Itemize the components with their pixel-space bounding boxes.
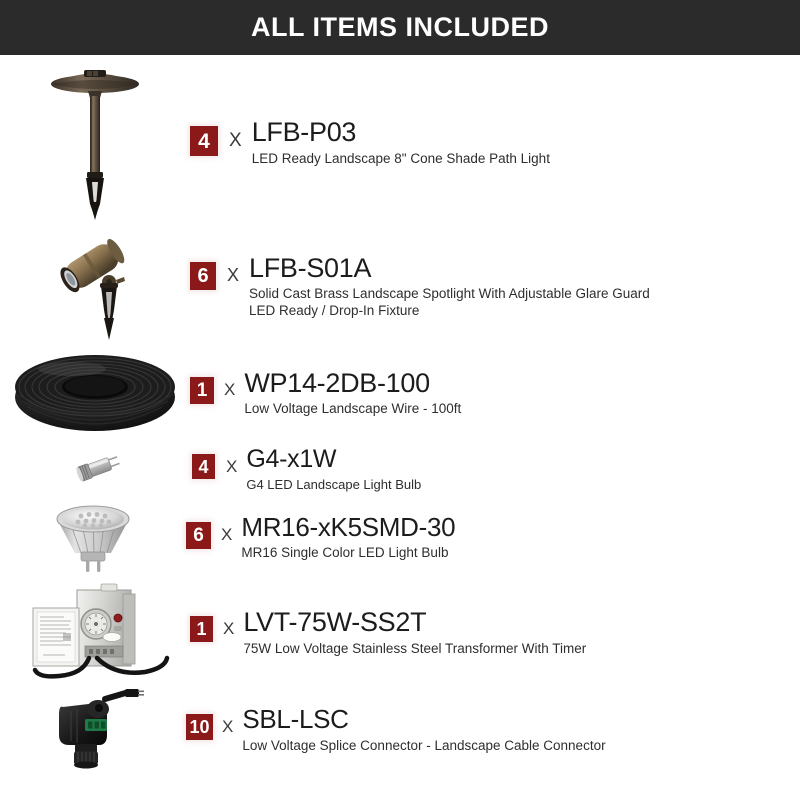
product-image-mr16-bulb xyxy=(0,497,186,577)
multiplier-symbol: X xyxy=(229,130,242,152)
item-info: 4 X LFB-P03 LED Ready Landscape 8" Cone … xyxy=(190,112,800,167)
list-item: 1 X WP14-2DB-100 Low Voltage Landscape W… xyxy=(0,345,800,440)
qty-badge: 10 xyxy=(186,714,213,740)
page-header-bar: ALL ITEMS INCLUDED xyxy=(0,0,800,55)
item-sku: MR16-xK5SMD-30 xyxy=(241,514,800,541)
splice-connector-icon xyxy=(41,689,145,771)
item-description: 75W Low Voltage Stainless Steel Transfor… xyxy=(243,641,800,658)
multiplier-symbol: X xyxy=(226,457,237,477)
qty-group: 4 X xyxy=(192,446,246,479)
list-item: 10 X SBL-LSC Low Voltage Splice Connecto… xyxy=(0,687,800,772)
item-text: LFB-P03 LED Ready Landscape 8" Cone Shad… xyxy=(252,118,800,167)
qty-group: 1 X xyxy=(190,369,244,404)
included-items-list: 4 X LFB-P03 LED Ready Landscape 8" Cone … xyxy=(0,55,800,772)
path-light-icon xyxy=(30,58,160,223)
qty-badge: 1 xyxy=(190,377,214,404)
item-description: LED Ready Landscape 8" Cone Shade Path L… xyxy=(252,151,800,168)
wire-coil-icon xyxy=(10,349,180,437)
product-image-spotlight xyxy=(0,225,190,345)
item-info: 10 X SBL-LSC Low Voltage Splice Connecto… xyxy=(186,704,800,754)
all-items-included-page: { "header": { "title": "ALL ITEMS INCLUD… xyxy=(0,0,800,789)
item-info: 4 X G4-x1W G4 LED Landscape Light Bulb xyxy=(192,444,800,493)
qty-group: 6 X xyxy=(190,254,249,290)
item-sku: G4-x1W xyxy=(246,446,800,472)
qty-group: 10 X xyxy=(186,706,242,740)
qty-badge: 6 xyxy=(190,262,216,290)
item-info: 1 X WP14-2DB-100 Low Voltage Landscape W… xyxy=(190,367,800,418)
item-sku: LFB-S01A xyxy=(249,254,800,282)
transformer-icon xyxy=(19,578,171,686)
item-text: LFB-S01A Solid Cast Brass Landscape Spot… xyxy=(249,254,800,320)
list-item: 1 X LVT-75W-SS2T 75W Low Voltage Stainle… xyxy=(0,577,800,687)
product-image-transformer xyxy=(0,577,190,687)
qty-group: 4 X xyxy=(190,118,252,156)
item-text: SBL-LSC Low Voltage Splice Connector - L… xyxy=(242,706,800,754)
item-text: MR16-xK5SMD-30 MR16 Single Color LED Lig… xyxy=(241,514,800,562)
multiplier-symbol: X xyxy=(222,717,233,737)
item-text: WP14-2DB-100 Low Voltage Landscape Wire … xyxy=(244,369,800,418)
item-description: Low Voltage Landscape Wire - 100ft xyxy=(244,401,800,418)
item-description: G4 LED Landscape Light Bulb xyxy=(246,477,800,493)
multiplier-symbol: X xyxy=(223,619,234,639)
page-title: ALL ITEMS INCLUDED xyxy=(251,12,549,43)
product-image-g4-bulb xyxy=(0,440,192,497)
item-description: Solid Cast Brass Landscape Spotlight Wit… xyxy=(249,286,800,320)
qty-group: 1 X xyxy=(190,608,243,642)
item-info: 1 X LVT-75W-SS2T 75W Low Voltage Stainle… xyxy=(190,606,800,657)
mr16-bulb-icon xyxy=(45,499,141,575)
multiplier-symbol: X xyxy=(224,380,235,400)
list-item: 4 X G4-x1W G4 LED Landscape Light Bulb xyxy=(0,440,800,497)
qty-badge: 4 xyxy=(192,454,215,479)
item-info: 6 X LFB-S01A Solid Cast Brass Landscape … xyxy=(190,250,800,320)
item-sku: LVT-75W-SS2T xyxy=(243,608,800,636)
product-image-path-light xyxy=(0,55,190,225)
item-sku: SBL-LSC xyxy=(242,706,800,733)
list-item: 4 X LFB-P03 LED Ready Landscape 8" Cone … xyxy=(0,55,800,225)
item-description: Low Voltage Splice Connector - Landscape… xyxy=(242,738,800,755)
item-text: G4-x1W G4 LED Landscape Light Bulb xyxy=(246,446,800,493)
multiplier-symbol: X xyxy=(227,265,239,286)
item-description: MR16 Single Color LED Light Bulb xyxy=(241,545,800,562)
list-item: 6 X MR16-xK5SMD-30 MR16 Single Color LED… xyxy=(0,497,800,577)
qty-badge: 6 xyxy=(186,522,211,549)
product-image-splice-connector xyxy=(0,687,186,772)
item-info: 6 X MR16-xK5SMD-30 MR16 Single Color LED… xyxy=(186,512,800,562)
qty-badge: 1 xyxy=(190,616,213,642)
item-text: LVT-75W-SS2T 75W Low Voltage Stainless S… xyxy=(243,608,800,657)
multiplier-symbol: X xyxy=(221,525,232,545)
spotlight-icon xyxy=(30,226,160,344)
product-image-wire-coil xyxy=(0,345,190,440)
g4-bulb-icon xyxy=(59,449,133,489)
item-sku: LFB-P03 xyxy=(252,118,800,146)
list-item: 6 X LFB-S01A Solid Cast Brass Landscape … xyxy=(0,225,800,345)
qty-badge: 4 xyxy=(190,126,218,156)
item-sku: WP14-2DB-100 xyxy=(244,369,800,397)
qty-group: 6 X xyxy=(186,514,241,549)
